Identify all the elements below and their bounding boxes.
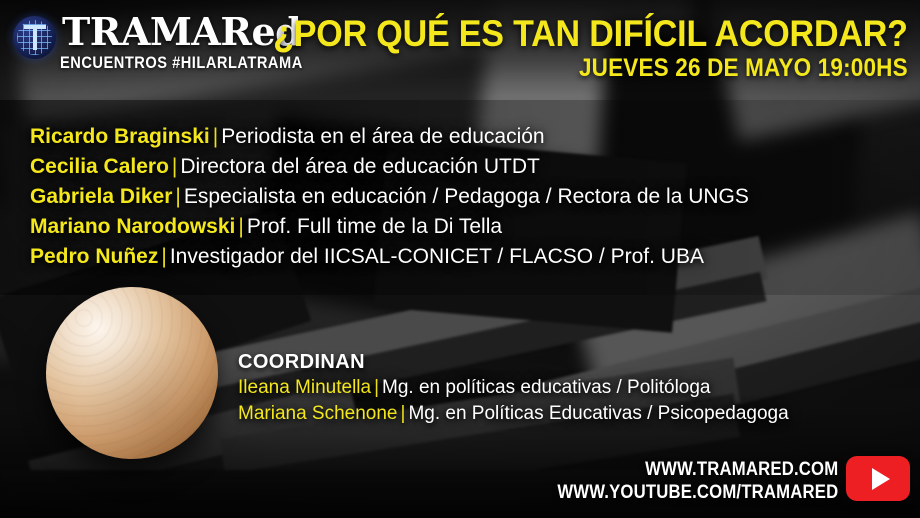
coordinators-block: COORDINAN Ileana Minutella|Mg. en políti…: [238, 349, 789, 427]
speaker-role: Directora del área de educación UTDT: [180, 155, 540, 178]
youtube-button[interactable]: [846, 456, 910, 501]
speaker-separator: |: [169, 155, 180, 178]
speaker-role: Periodista en el área de educación: [221, 125, 544, 148]
sphere-wood-grain: [46, 287, 218, 459]
speaker-separator: |: [158, 245, 169, 268]
logo-letter-t: [24, 25, 46, 50]
coordinator-row: Mariana Schenone|Mg. en Políticas Educat…: [238, 401, 789, 427]
speaker-name: Cecilia Calero: [30, 155, 169, 178]
speaker-name: Ricardo Braginski: [30, 125, 210, 148]
coordinator-row: Ileana Minutella|Mg. en políticas educat…: [238, 375, 789, 401]
event-poster: TRAMARed ENCUENTROS #HILARLATRAMA ¿POR Q…: [0, 0, 920, 518]
youtube-play-icon: [872, 468, 890, 490]
website-url[interactable]: WWW.TRAMARED.COM: [557, 458, 838, 481]
tramared-logo-icon: [13, 16, 56, 59]
speaker-row: Cecilia Calero|Directora del área de edu…: [30, 152, 749, 182]
speaker-role: Especialista en educación / Pedagoga / R…: [184, 185, 749, 208]
coordinator-name: Mariana Schenone: [238, 403, 398, 424]
headline-question: ¿POR QUÉ ES TAN DIFÍCIL ACORDAR?: [273, 14, 908, 54]
speaker-name: Mariano Narodowski: [30, 215, 235, 238]
coordinator-role: Mg. en políticas educativas / Politóloga: [382, 377, 710, 398]
speaker-row: Gabriela Diker|Especialista en educación…: [30, 182, 749, 212]
speaker-row: Pedro Nuñez|Investigador del IICSAL-CONI…: [30, 242, 749, 272]
speaker-separator: |: [172, 185, 183, 208]
youtube-url[interactable]: WWW.YOUTUBE.COM/TRAMARED: [557, 481, 838, 504]
speaker-name: Pedro Nuñez: [30, 245, 158, 268]
headline-block: ¿POR QUÉ ES TAN DIFÍCIL ACORDAR? JUEVES …: [218, 14, 908, 82]
speaker-name: Gabriela Diker: [30, 185, 172, 208]
speaker-list: Ricardo Braginski|Periodista en el área …: [30, 122, 749, 272]
headline-date: JUEVES 26 DE MAYO 19:00HS: [287, 54, 908, 82]
speaker-role: Prof. Full time de la Di Tella: [247, 215, 502, 238]
speaker-role: Investigador del IICSAL-CONICET / FLACSO…: [170, 245, 704, 268]
coordinator-separator: |: [398, 403, 409, 424]
coordinators-title: COORDINAN: [238, 349, 789, 375]
coordinator-separator: |: [371, 377, 382, 398]
coordinator-name: Ileana Minutella: [238, 377, 371, 398]
coordinator-role: Mg. en Políticas Educativas / Psicopedag…: [408, 403, 788, 424]
wooden-sphere: [46, 287, 218, 459]
speaker-separator: |: [235, 215, 246, 238]
footer-links: WWW.TRAMARED.COM WWW.YOUTUBE.COM/TRAMARE…: [519, 458, 838, 504]
speaker-separator: |: [210, 125, 221, 148]
speaker-row: Mariano Narodowski|Prof. Full time de la…: [30, 212, 749, 242]
speaker-row: Ricardo Braginski|Periodista en el área …: [30, 122, 749, 152]
